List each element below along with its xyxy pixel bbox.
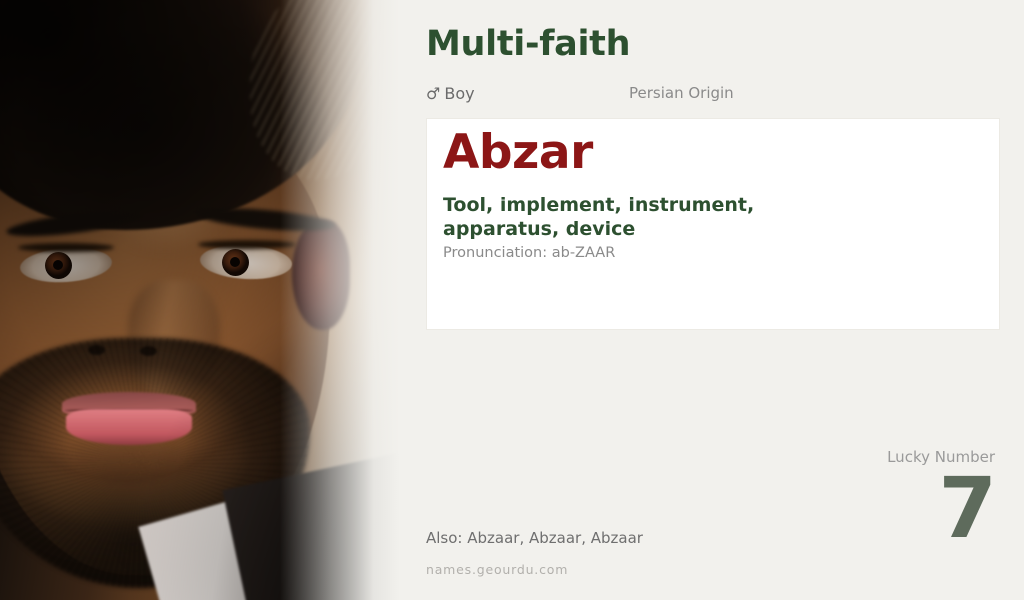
photo-edge-fade <box>280 0 400 600</box>
origin-label: Persian Origin <box>629 84 734 102</box>
name-heading: Abzar <box>443 128 593 177</box>
portrait-photo <box>0 0 400 600</box>
name-detail-screen: Multi-faith ♂Boy Persian Origin Abzar To… <box>0 0 1024 600</box>
name-meaning: Tool, implement, instrument, apparatus, … <box>443 193 863 242</box>
name-card: Abzar Tool, implement, instrument, appar… <box>426 118 1000 330</box>
gender-label-group: ♂Boy <box>426 84 475 103</box>
page-title: Multi-faith <box>426 24 630 64</box>
lucky-number-value: 7 <box>735 469 995 549</box>
pronunciation-label: Pronunciation: ab-ZAAR <box>443 245 615 261</box>
alternate-spellings: Also: Abzaar, Abzaar, Abzaar <box>426 529 643 547</box>
male-symbol-icon: ♂ <box>426 84 440 103</box>
detail-content: Multi-faith ♂Boy Persian Origin Abzar To… <box>426 0 1024 600</box>
gender-label: Boy <box>444 84 474 103</box>
lucky-number-block: Lucky Number 7 <box>735 450 995 549</box>
site-watermark: names.geourdu.com <box>426 562 568 577</box>
name-meta-row: ♂Boy Persian Origin <box>426 84 1006 106</box>
